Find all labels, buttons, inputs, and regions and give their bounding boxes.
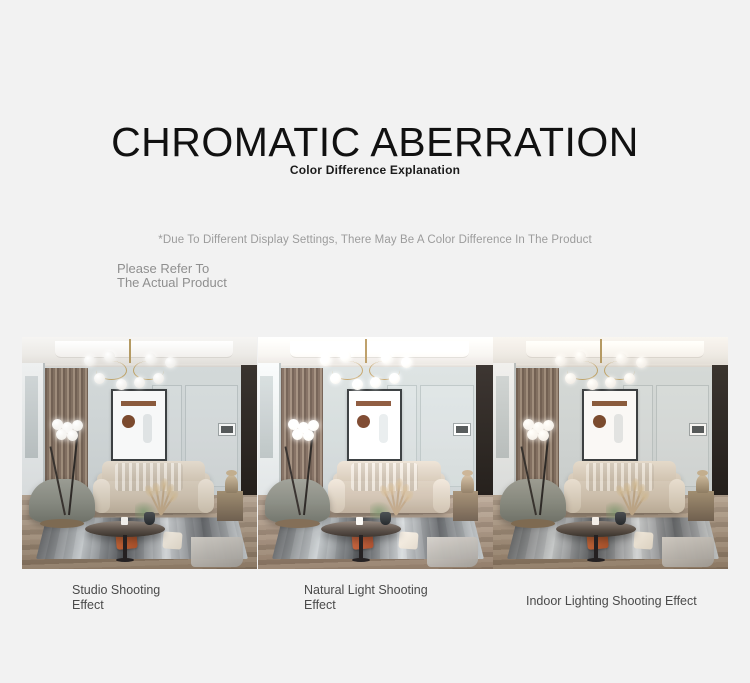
chandelier-bulb: [605, 377, 616, 388]
chandelier-bulb: [116, 379, 127, 390]
wall-control-panel: [689, 423, 707, 436]
living-room-scene: [22, 337, 257, 569]
throw-blanket: [427, 537, 479, 567]
lamp-stem: [68, 429, 79, 515]
chandelier-bulb: [134, 377, 145, 388]
floor-lamp: [521, 419, 555, 515]
caption-natural-line-1: Natural Light Shooting: [304, 583, 504, 598]
lamp-globe: [303, 430, 314, 441]
chandelier-bulb: [94, 373, 105, 384]
sputnik-chandelier: [82, 339, 178, 397]
lamp-globe: [56, 429, 67, 440]
wall-control-panel: [453, 423, 471, 436]
sofa-arm-right: [669, 479, 686, 513]
caption-row: Studio Shooting Effect Natural Light Sho…: [22, 583, 728, 627]
art-bar: [356, 401, 391, 406]
chandelier-bulb: [555, 355, 566, 366]
page-title: CHROMATIC ABERRATION: [0, 122, 750, 163]
sofa-arm-right: [433, 479, 450, 513]
left-doorway: [493, 363, 516, 495]
throw-blanket: [662, 537, 714, 567]
gallery-image-natural[interactable]: [258, 337, 493, 569]
caption-natural-line-2: Effect: [304, 598, 504, 613]
chandelier-bulb: [330, 373, 341, 384]
cream-throw-pillow: [162, 531, 182, 549]
lamp-shade-cluster: [521, 419, 555, 441]
cup: [356, 517, 363, 525]
wall-control-panel: [218, 423, 236, 436]
left-doorway: [258, 363, 281, 495]
page-subtitle: Color Difference Explanation: [0, 163, 750, 177]
throw-blanket: [191, 537, 243, 567]
pampas-grass: [611, 481, 651, 515]
sofa-arm-right: [198, 479, 215, 513]
art-circle: [122, 415, 135, 428]
disclaimer-sub-line-1: Please Refer To: [117, 262, 227, 276]
art-bar: [121, 401, 156, 406]
caption-studio: Studio Shooting Effect: [72, 583, 262, 614]
shot-gallery: [22, 337, 728, 569]
caption-indoor: Indoor Lighting Shooting Effect: [526, 594, 746, 609]
lamp-stem: [539, 429, 550, 515]
right-doorway: [241, 365, 257, 495]
vase: [615, 512, 626, 525]
caption-indoor-line-1: Indoor Lighting Shooting Effect: [526, 594, 746, 609]
pampas-grass: [375, 481, 415, 515]
art-stripe: [143, 414, 152, 443]
gallery-image-studio[interactable]: [22, 337, 257, 569]
coffee-table-leg: [359, 535, 363, 559]
art-bar: [592, 401, 627, 406]
lamp-stem: [303, 429, 314, 515]
coffee-table-leg: [594, 535, 598, 559]
chandelier-bulb: [320, 355, 331, 366]
caption-studio-line-2: Effect: [72, 598, 262, 613]
chandelier-bulb: [575, 351, 586, 362]
lamp-globe: [538, 430, 549, 441]
vase: [144, 512, 155, 525]
lamp-globe: [67, 430, 78, 441]
lamp-shade-cluster: [286, 419, 320, 441]
art-stripe: [379, 414, 388, 443]
chandelier-rod: [129, 339, 131, 363]
cream-throw-pillow: [633, 531, 653, 549]
framed-wall-art: [582, 389, 638, 461]
coffee-table-leg: [123, 535, 127, 559]
chandelier-bulb: [370, 377, 381, 388]
chandelier-bulb: [340, 351, 351, 362]
art-circle: [357, 415, 370, 428]
lamp-globe: [527, 429, 538, 440]
art-circle: [593, 415, 606, 428]
framed-wall-art: [347, 389, 403, 461]
lamp-stem: [49, 446, 66, 515]
chandelier-bulb: [389, 373, 400, 384]
chandelier-bulb: [104, 351, 115, 362]
living-room-scene: [258, 337, 493, 569]
chandelier-rod: [600, 339, 602, 363]
vase: [380, 512, 391, 525]
art-stripe: [614, 414, 623, 443]
chandelier-bulb: [352, 379, 363, 390]
decor-figurine: [461, 475, 474, 493]
decor-figurine: [696, 475, 709, 493]
disclaimer-sub-text: Please Refer To The Actual Product: [117, 262, 227, 289]
sofa-arm-left: [93, 479, 110, 513]
lamp-globe: [292, 429, 303, 440]
caption-studio-line-1: Studio Shooting: [72, 583, 262, 598]
caption-natural: Natural Light Shooting Effect: [304, 583, 504, 614]
lamp-shade-cluster: [50, 419, 84, 441]
pampas-grass: [140, 481, 180, 515]
chandelier-bulb: [165, 357, 176, 368]
left-doorway: [22, 363, 45, 495]
chandelier-bulb: [381, 353, 392, 364]
chromatic-aberration-page: CHROMATIC ABERRATION Color Difference Ex…: [0, 0, 750, 683]
chandelier-bulb: [636, 357, 647, 368]
chandelier-bulb: [153, 373, 164, 384]
side-console: [688, 491, 714, 521]
right-doorway: [476, 365, 492, 495]
chandelier-bulb: [401, 357, 412, 368]
chandelier-bulb: [616, 353, 627, 364]
framed-wall-art: [111, 389, 167, 461]
chandelier-bulb: [565, 373, 576, 384]
cup: [592, 517, 599, 525]
gallery-image-indoor[interactable]: [493, 337, 728, 569]
chandelier-bulb: [84, 355, 95, 366]
floor-lamp: [50, 419, 84, 515]
side-console: [453, 491, 479, 521]
living-room-scene: [493, 337, 728, 569]
right-doorway: [712, 365, 728, 495]
lamp-stem: [285, 446, 302, 515]
decor-figurine: [225, 475, 238, 493]
disclaimer-main-text: *Due To Different Display Settings, Ther…: [0, 234, 750, 246]
lamp-stem: [520, 446, 537, 515]
disclaimer-sub-line-2: The Actual Product: [117, 276, 227, 290]
side-console: [217, 491, 243, 521]
sofa-arm-left: [328, 479, 345, 513]
chandelier-rod: [365, 339, 367, 363]
floor-lamp: [286, 419, 320, 515]
chandelier-bulb: [587, 379, 598, 390]
chandelier-bulb: [145, 353, 156, 364]
sofa-arm-left: [564, 479, 581, 513]
cup: [121, 517, 128, 525]
sputnik-chandelier: [553, 339, 649, 397]
chandelier-bulb: [624, 373, 635, 384]
cream-throw-pillow: [398, 531, 418, 549]
sputnik-chandelier: [318, 339, 414, 397]
